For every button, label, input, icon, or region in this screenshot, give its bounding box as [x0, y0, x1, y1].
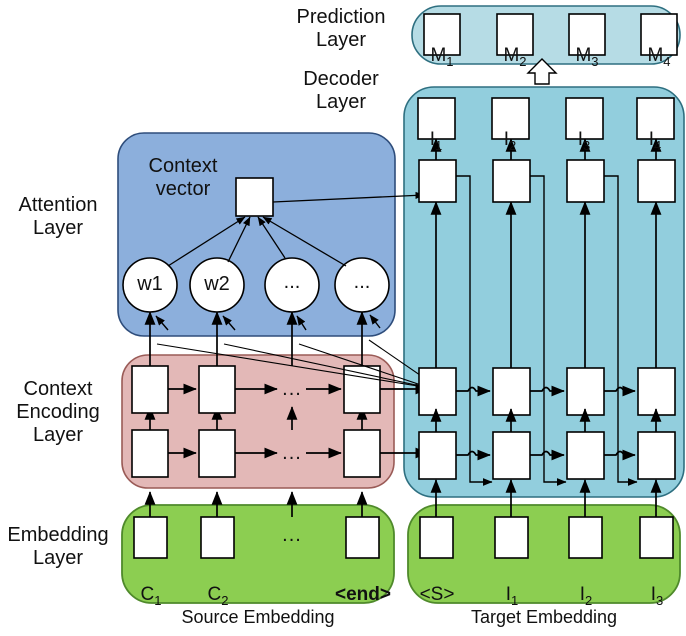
target-token-sub: 2	[585, 593, 592, 608]
label-attention-layer: Attention Layer	[0, 194, 116, 240]
prediction-output-label: M3	[561, 23, 613, 70]
target-token-sub: 1	[511, 593, 518, 608]
source-token-base: C	[141, 584, 155, 605]
diagram-canvas: Prediction Layer Decoder Layer Attention…	[0, 0, 686, 636]
attention-weight-label: ...	[265, 271, 319, 294]
source-token-base: <end>	[335, 584, 391, 605]
context-vector-label: Context vector	[131, 155, 235, 201]
prediction-output-label: M1	[416, 23, 468, 70]
source-token-label: C2	[191, 562, 245, 609]
prediction-output-base: M	[503, 45, 519, 66]
attention-weight-label: ...	[335, 271, 389, 294]
prediction-output-label: M2	[489, 23, 541, 70]
label-decoder-layer: Decoder Layer	[286, 68, 396, 114]
prediction-output-sub: 3	[591, 54, 598, 69]
source-token-sub: 2	[221, 593, 228, 608]
source-embedding-ellipsis: ...	[268, 524, 316, 547]
prediction-output-base: M	[647, 45, 663, 66]
encoder-lower-ellipsis: ...	[268, 442, 316, 465]
encoder-upper-ellipsis: ...	[268, 378, 316, 401]
label-embedding-layer: Embedding Layer	[0, 524, 116, 570]
decoder-output-label: I3	[558, 107, 610, 154]
label-context-encoding-layer: Context Encoding Layer	[0, 378, 116, 447]
decoder-output-sub: 2	[509, 138, 516, 153]
target-token-label: I2	[559, 562, 613, 609]
target-token-label: I1	[485, 562, 539, 609]
target-token-label: <S>	[409, 562, 465, 606]
prediction-output-base: M	[430, 45, 446, 66]
source-token-label: <end>	[318, 562, 408, 606]
decoder-output-label: I2	[484, 107, 536, 154]
target-token-label: I3	[630, 562, 684, 609]
prediction-output-label: M4	[633, 23, 685, 70]
decoder-output-label: I1	[410, 107, 462, 154]
decoder-output-sub: 4	[654, 138, 661, 153]
decoder-output-sub: 1	[435, 138, 442, 153]
prediction-output-base: M	[575, 45, 591, 66]
decoder-output-label: I4	[629, 107, 681, 154]
source-token-sub: 1	[154, 593, 161, 608]
decoder-output-sub: 3	[583, 138, 590, 153]
prediction-output-sub: 4	[663, 54, 670, 69]
attention-weight-label: w2	[190, 273, 244, 296]
target-token-base: <S>	[420, 584, 455, 605]
caption-source-embedding: Source Embedding	[142, 607, 374, 628]
prediction-output-sub: 1	[446, 54, 453, 69]
caption-target-embedding: Target Embedding	[428, 607, 660, 628]
label-prediction-layer: Prediction Layer	[286, 6, 396, 52]
source-token-base: C	[208, 584, 222, 605]
target-token-sub: 3	[656, 593, 663, 608]
prediction-output-sub: 2	[519, 54, 526, 69]
context-vector-box	[236, 178, 273, 216]
attention-weight-label: w1	[123, 273, 177, 296]
source-token-label: C1	[124, 562, 178, 609]
